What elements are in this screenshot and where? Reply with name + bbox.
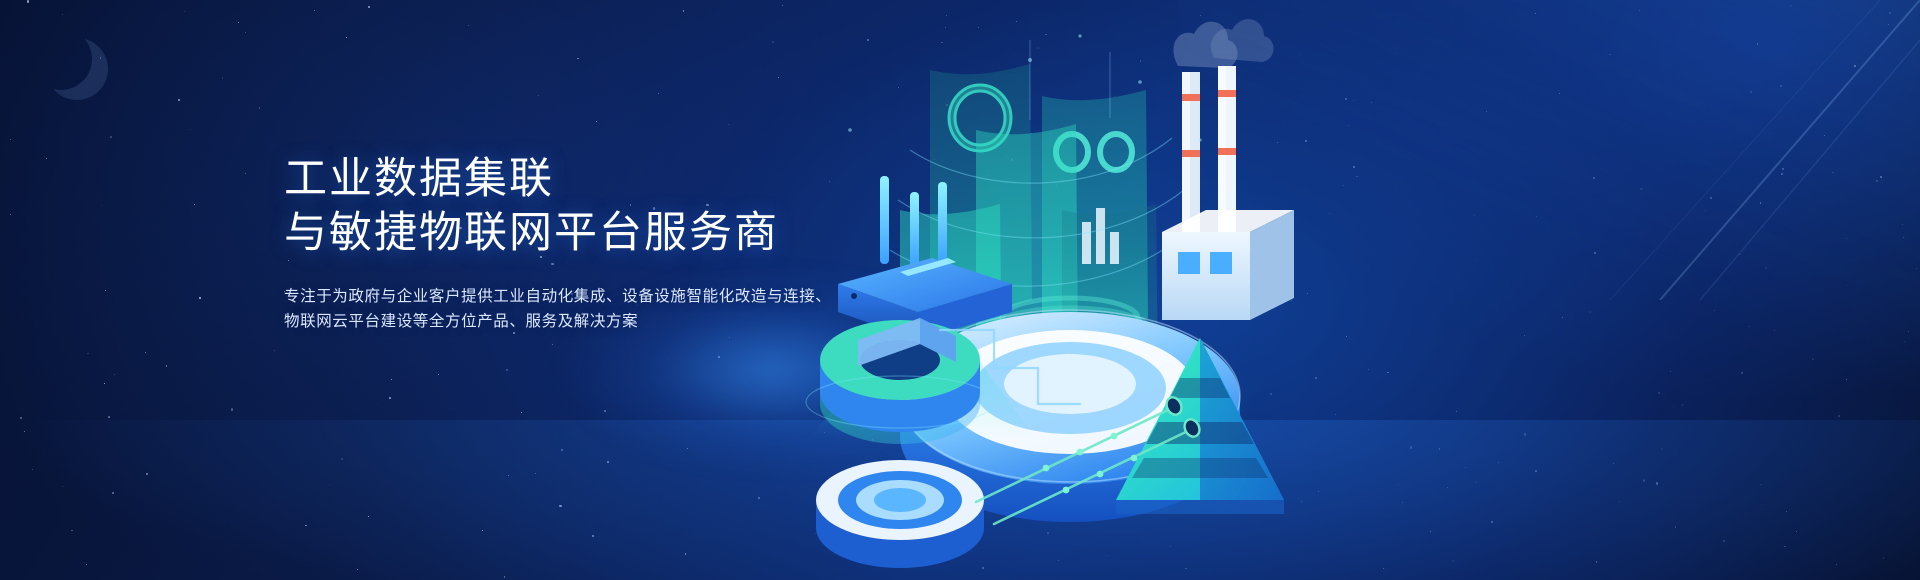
headline-line-2: 与敏捷物联网平台服务商 bbox=[284, 206, 844, 260]
factory-smokestacks bbox=[1162, 19, 1294, 320]
subtitle-line-1: 专注于为政府与企业客户提供工业自动化集成、设备设施智能化改造与连接、 bbox=[284, 284, 844, 309]
subtitle-line-2: 物联网云平台建设等全方位产品、服务及解决方案 bbox=[284, 309, 844, 334]
iot-illustration bbox=[780, 0, 1920, 580]
hero-banner: 工业数据集联 与敏捷物联网平台服务商 专注于为政府与企业客户提供工业自动化集成、… bbox=[0, 0, 1920, 580]
moon-glow bbox=[30, 28, 92, 90]
small-disc bbox=[816, 460, 984, 568]
headline-line-1: 工业数据集联 bbox=[284, 152, 844, 206]
hero-copy: 工业数据集联 与敏捷物联网平台服务商 专注于为政府与企业客户提供工业自动化集成、… bbox=[284, 152, 844, 334]
